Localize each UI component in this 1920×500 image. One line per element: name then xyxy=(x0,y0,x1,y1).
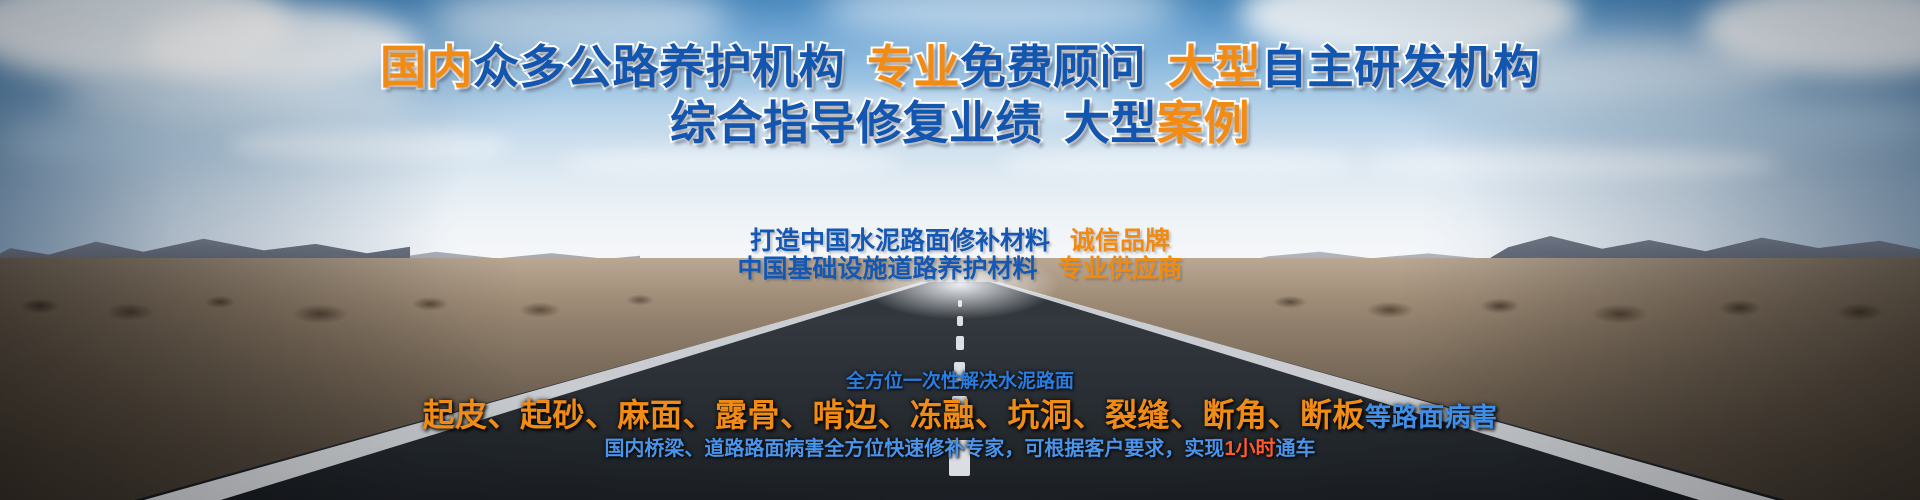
headline-line-1: 国内众多公路养护机构专业免费顾问大型自主研发机构 xyxy=(0,44,1920,90)
headline-1-seg-1: 国内 xyxy=(380,41,473,93)
tagline-1-blue: 打造中国水泥路面修补材料 xyxy=(750,227,1050,255)
headline-1-seg-2: 众多公路养护机构 xyxy=(473,41,845,93)
defect-list-suffix: 等路面病害 xyxy=(1365,402,1498,432)
sub-suffix: 通车 xyxy=(1276,438,1316,460)
headline-1-seg-5: 大型 xyxy=(1168,41,1261,93)
tagline-2-blue: 中国基础设施道路养护材料 xyxy=(737,255,1037,283)
promo-banner: 国内众多公路养护机构专业免费顾问大型自主研发机构 综合指导修复业绩大型案例 打造… xyxy=(0,0,1920,500)
headline-2-seg-3: 案例 xyxy=(1157,97,1250,149)
bottom-sub-text: 国内桥梁、道路路面病害全方位快速修补专家，可根据客户要求，实现1小时通车 xyxy=(0,432,1920,461)
sub-prefix: 国内桥梁、道路路面病害全方位快速修补专家，可根据客户要求，实现 xyxy=(604,438,1224,460)
tagline-line-2: 中国基础设施道路养护材料专业供应商 xyxy=(0,254,1920,285)
headline-2-seg-1: 综合指导修复业绩 xyxy=(670,97,1042,149)
headline-line-2: 综合指导修复业绩大型案例 xyxy=(0,100,1920,146)
headline-1-seg-3: 专业 xyxy=(867,41,960,93)
headline-2-seg-2: 大型 xyxy=(1064,97,1157,149)
sub-highlight: 1小时 xyxy=(1224,438,1275,460)
defect-list-orange: 起皮、起砂、麻面、露骨、啃边、冻融、坑洞、裂缝、断角、断板 xyxy=(422,397,1365,433)
tagline-2-orange: 专业供应商 xyxy=(1058,255,1183,283)
banner-content: 国内众多公路养护机构专业免费顾问大型自主研发机构 综合指导修复业绩大型案例 打造… xyxy=(0,0,1920,500)
tagline-1-orange: 诚信品牌 xyxy=(1070,227,1170,255)
headline-1-seg-4: 免费顾问 xyxy=(960,41,1146,93)
tagline-line-1: 打造中国水泥路面修补材料诚信品牌 xyxy=(0,226,1920,257)
bottom-lead-text: 全方位一次性解决水泥路面 xyxy=(0,366,1920,393)
bottom-defect-list: 起皮、起砂、麻面、露骨、啃边、冻融、坑洞、裂缝、断角、断板等路面病害 xyxy=(0,390,1920,436)
headline-1-seg-6: 自主研发机构 xyxy=(1261,41,1540,93)
